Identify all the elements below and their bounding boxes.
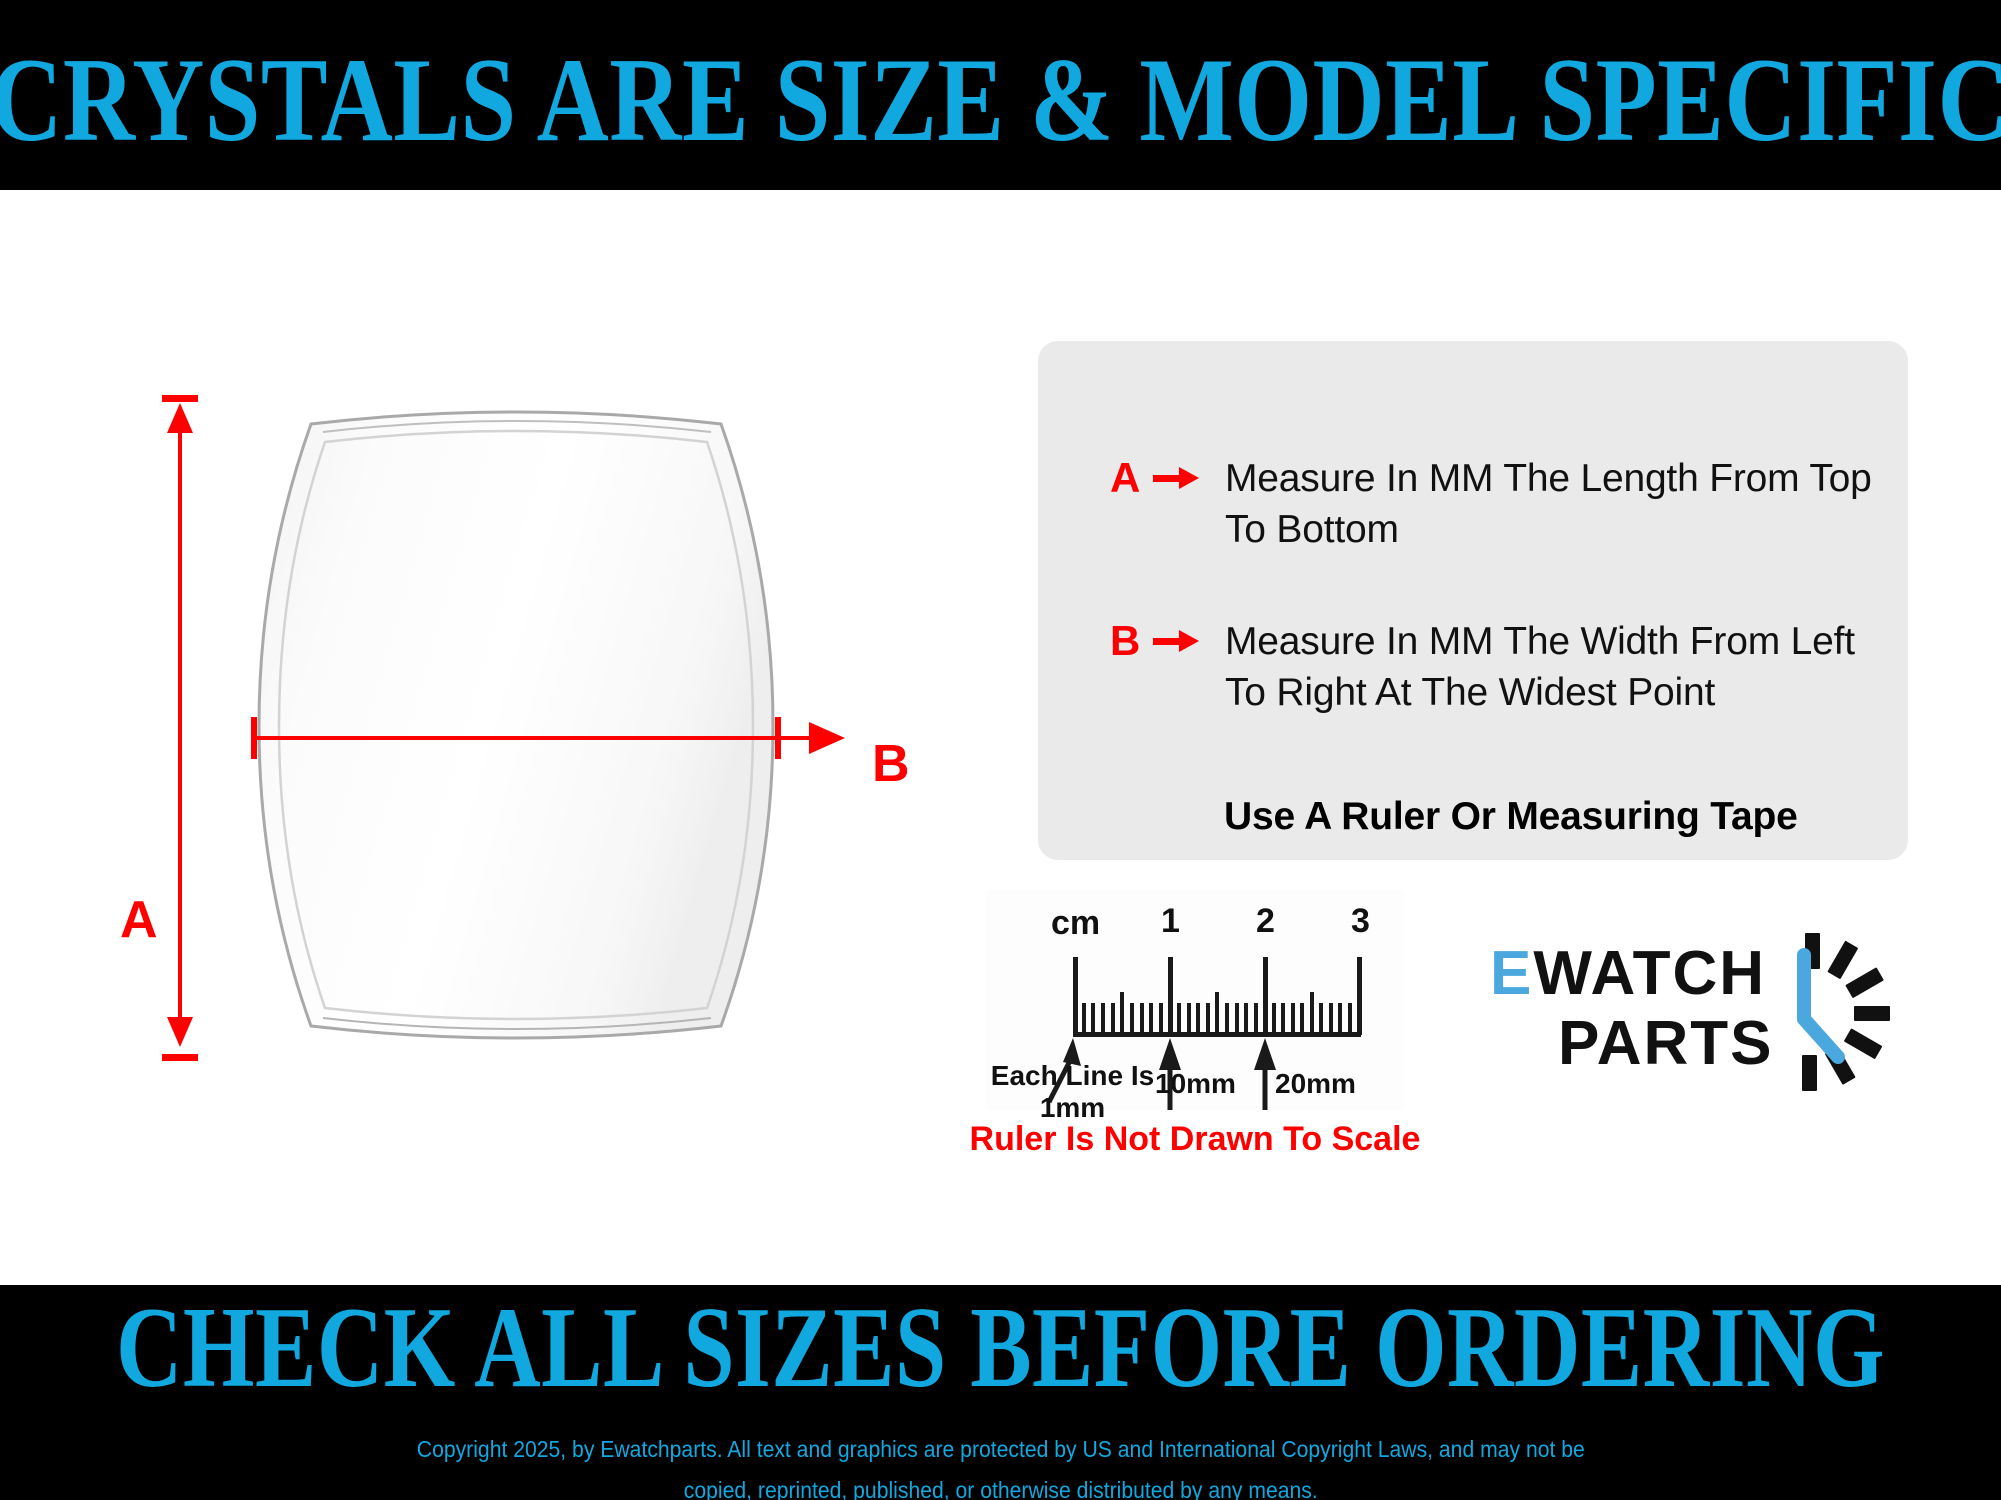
ruler-unit-label: cm bbox=[1051, 904, 1100, 943]
dimension-a-top-cap bbox=[162, 395, 198, 402]
dimension-a-down-arrowhead bbox=[167, 1017, 193, 1047]
ruler-note-20mm: 20mm bbox=[1275, 1068, 1395, 1100]
dimension-label-b: B bbox=[872, 734, 910, 794]
dimension-b-left-tick bbox=[251, 717, 257, 759]
logo-line-ewatch: EWATCH bbox=[1490, 943, 1766, 1005]
dimension-arrow-b bbox=[247, 710, 857, 770]
ewatchparts-logo: EWATCH PARTS bbox=[1490, 935, 1890, 1100]
instruction-marker-a: A bbox=[1110, 453, 1225, 499]
top-banner-text: CRYSTALS ARE SIZE & MODEL SPECIFIC bbox=[0, 41, 2001, 161]
right-arrow-icon bbox=[1153, 467, 1199, 489]
instruction-row-b: B Measure In MM The Width From Left To R… bbox=[1038, 616, 1908, 719]
dimension-a-line bbox=[178, 413, 182, 1043]
instruction-letter-b: B bbox=[1110, 620, 1140, 662]
instruction-letter-a: A bbox=[1110, 457, 1140, 499]
ruler-tick-label-3: 3 bbox=[1351, 902, 1370, 941]
clock-icon bbox=[1726, 927, 1896, 1097]
ruler-note-10mm: 10mm bbox=[1155, 1068, 1275, 1100]
right-arrow-icon bbox=[1153, 630, 1199, 652]
copyright-line-1: Copyright 2025, by Ewatchparts. All text… bbox=[417, 1429, 1585, 1470]
instruction-text-a: Measure In MM The Length From Top To Bot… bbox=[1225, 453, 1885, 556]
copyright-notice: Copyright 2025, by Ewatchparts. All text… bbox=[417, 1429, 1585, 1500]
dimension-arrow-a bbox=[150, 395, 210, 1060]
ruler-tick-label-2: 2 bbox=[1256, 902, 1275, 941]
instruction-panel: A Measure In MM The Length From Top To B… bbox=[1038, 341, 1908, 860]
dimension-label-a: A bbox=[120, 890, 158, 950]
instruction-text-b: Measure In MM The Width From Left To Rig… bbox=[1225, 616, 1885, 719]
bottom-banner: CHECK ALL SIZES BEFORE ORDERING Copyrigh… bbox=[0, 1285, 2001, 1500]
dimension-b-right-tick bbox=[775, 717, 781, 759]
ruler-block: cm 1 2 3 Each Line Is 1mm 10mm 20mm Rule… bbox=[985, 890, 1405, 1200]
dimension-a-bottom-cap bbox=[162, 1054, 198, 1061]
dimension-b-arrowhead bbox=[809, 722, 845, 754]
ruler-note-each-line: Each Line Is 1mm bbox=[980, 1060, 1165, 1125]
copyright-line-2: copied, reprinted, published, or otherwi… bbox=[417, 1470, 1585, 1500]
bottom-banner-text: CHECK ALL SIZES BEFORE ORDERING bbox=[116, 1289, 1885, 1404]
dimension-b-line bbox=[253, 736, 813, 740]
instruction-marker-b: B bbox=[1110, 616, 1225, 662]
ruler-scale-warning: Ruler Is Not Drawn To Scale bbox=[960, 1120, 1430, 1159]
instruction-note: Use A Ruler Or Measuring Tape bbox=[1038, 795, 1908, 839]
ruler-tick-label-1: 1 bbox=[1161, 902, 1180, 941]
instruction-row-a: A Measure In MM The Length From Top To B… bbox=[1038, 453, 1908, 556]
top-banner: CRYSTALS ARE SIZE & MODEL SPECIFIC bbox=[0, 0, 2001, 190]
crystal-diagram-area: A B bbox=[0, 190, 1000, 1285]
logo-letter-e: E bbox=[1490, 939, 1533, 1008]
